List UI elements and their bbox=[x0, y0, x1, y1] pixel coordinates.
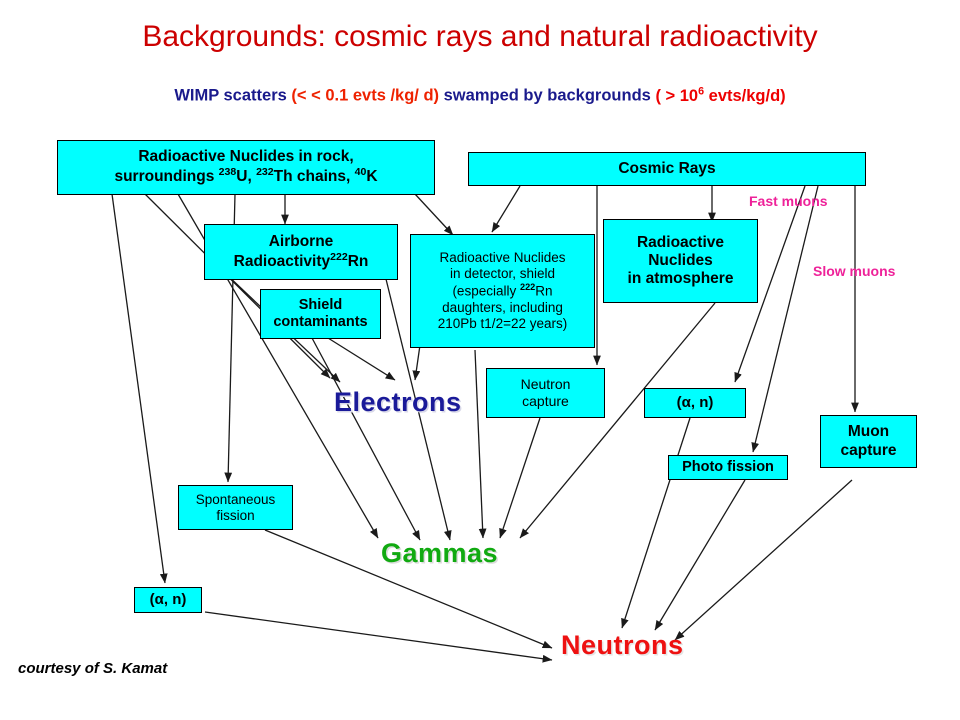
rn222-symbol: Rn bbox=[348, 253, 369, 270]
box-cosmic-rays[interactable]: Cosmic Rays bbox=[468, 152, 866, 186]
u238-mass-number: 238 bbox=[219, 166, 237, 178]
box-spontaneous-fission-line1: Spontaneous bbox=[196, 492, 276, 508]
box-muon-capture-line2: capture bbox=[841, 442, 897, 460]
box-rock-surroundings: surroundings bbox=[114, 169, 218, 186]
arrow-detector-to-gammas bbox=[475, 350, 483, 538]
arrow-cosmic-to-detector bbox=[492, 186, 520, 232]
alphan-right-close: , n) bbox=[691, 394, 714, 411]
k40-mass-number: 40 bbox=[355, 166, 367, 178]
box-airborne-line1: Airborne bbox=[234, 233, 369, 251]
credit-line: courtesy of S. Kamat bbox=[18, 660, 167, 677]
slide-title: Backgrounds: cosmic rays and natural rad… bbox=[0, 20, 960, 54]
box-airborne-line2: Radioactivity222Rn bbox=[234, 251, 369, 271]
box-neutron-capture-line2: capture bbox=[521, 393, 571, 410]
alphan-left-close: , n) bbox=[164, 591, 187, 608]
rn222-detector-symbol: Rn bbox=[535, 284, 552, 299]
box-detector-line4: daughters, including bbox=[438, 300, 567, 316]
arrow-shield-to-electrons bbox=[328, 338, 395, 380]
arrow-rock-to-gammas-a bbox=[145, 194, 330, 378]
u238-symbol: U, bbox=[236, 169, 256, 186]
box-shield-contaminants[interactable]: Shield contaminants bbox=[260, 289, 381, 339]
box-cosmic-rays-label: Cosmic Rays bbox=[618, 160, 715, 178]
box-muon-capture[interactable]: Muon capture bbox=[820, 415, 917, 468]
box-shield-line1: Shield bbox=[273, 297, 367, 314]
label-neutrons: Neutrons bbox=[561, 630, 684, 661]
arrow-photofission-to-neutrons bbox=[655, 480, 745, 630]
arrow-neutroncapture-to-gammas bbox=[500, 418, 540, 538]
arrow-rock-to-alphan-left bbox=[112, 194, 165, 583]
subtitle-rate-low: (< < 0.1 evts /kg/ d) bbox=[291, 87, 439, 105]
th232-symbol: Th chains, bbox=[274, 169, 355, 186]
box-radioactive-nuclides-detector[interactable]: Radioactive Nuclides in detector, shield… bbox=[410, 234, 595, 348]
box-alpha-n-left-label: (α, n) bbox=[150, 591, 187, 609]
box-rock-line2: surroundings 238U, 232Th chains, 40K bbox=[114, 166, 377, 186]
box-alpha-n-left[interactable]: (α, n) bbox=[134, 587, 202, 613]
box-detector-line1: Radioactive Nuclides bbox=[438, 250, 567, 266]
box-airborne-radioactivity-word: Radioactivity bbox=[234, 253, 330, 270]
slide-subtitle: WIMP scatters (< < 0.1 evts /kg/ d) swam… bbox=[0, 85, 960, 106]
box-atmosphere-line1: Radioactive bbox=[628, 234, 734, 252]
box-alpha-n-right[interactable]: (α, n) bbox=[644, 388, 746, 418]
label-gammas: Gammas bbox=[381, 538, 498, 569]
box-neutron-capture[interactable]: Neutron capture bbox=[486, 368, 605, 418]
box-atmosphere-line2: Nuclides bbox=[628, 252, 734, 270]
box-detector-line3: (especially 222Rn bbox=[438, 282, 567, 299]
box-photo-fission-label: Photo fission bbox=[682, 459, 774, 476]
rn222-detector-mass-number: 222 bbox=[520, 282, 535, 292]
box-photo-fission[interactable]: Photo fission bbox=[668, 455, 788, 480]
box-atmosphere-line3: in atmosphere bbox=[628, 270, 734, 288]
box-rock-line1: Radioactive Nuclides in rock, bbox=[114, 148, 377, 166]
box-alpha-n-right-label: (α, n) bbox=[677, 394, 714, 412]
box-radioactive-nuclides-rock[interactable]: Radioactive Nuclides in rock, surroundin… bbox=[57, 140, 435, 195]
box-radioactive-nuclides-atmosphere[interactable]: Radioactive Nuclides in atmosphere bbox=[603, 219, 758, 303]
arrow-rock-to-detector bbox=[415, 194, 453, 235]
box-detector-line5: 210Pb t1/2=22 years) bbox=[438, 316, 567, 332]
box-spontaneous-fission-line2: fission bbox=[196, 508, 276, 524]
rn222-mass-number: 222 bbox=[330, 251, 348, 263]
subtitle-rate-high-pre: ( > 10 bbox=[655, 87, 698, 105]
arrow-shield-to-gammas bbox=[312, 338, 420, 540]
alpha-glyph-right: α bbox=[682, 394, 691, 411]
subtitle-part-1: WIMP scatters bbox=[174, 87, 291, 105]
label-electrons: Electrons bbox=[334, 387, 462, 418]
box-spontaneous-fission[interactable]: Spontaneous fission bbox=[178, 485, 293, 530]
th232-mass-number: 232 bbox=[256, 166, 274, 178]
box-airborne-radioactivity[interactable]: Airborne Radioactivity222Rn bbox=[204, 224, 398, 280]
slide-canvas: Backgrounds: cosmic rays and natural rad… bbox=[0, 0, 960, 720]
alpha-glyph-left: α bbox=[155, 591, 164, 608]
box-muon-capture-line1: Muon bbox=[841, 423, 897, 441]
label-slow-muons: Slow muons bbox=[813, 263, 895, 279]
subtitle-part-3: swamped by backgrounds bbox=[439, 87, 655, 105]
box-detector-line2: in detector, shield bbox=[438, 266, 567, 282]
box-shield-line2: contaminants bbox=[273, 314, 367, 331]
arrow-alphanleft-to-neutrons bbox=[205, 612, 552, 660]
arrow-fastmuons-to-photofission bbox=[753, 186, 818, 452]
subtitle-rate-high-post: evts/kg/d) bbox=[704, 87, 786, 105]
arrow-detector-to-electrons bbox=[415, 345, 420, 380]
arrow-alphanright-to-neutrons bbox=[622, 418, 690, 628]
arrow-muoncapture-to-neutrons bbox=[675, 480, 852, 640]
box-detector-especially: (especially bbox=[452, 284, 520, 299]
subtitle-rate-high: ( > 106 evts/kg/d) bbox=[655, 87, 785, 105]
label-fast-muons: Fast muons bbox=[749, 193, 828, 209]
k40-symbol: K bbox=[366, 169, 377, 186]
box-neutron-capture-line1: Neutron bbox=[521, 376, 571, 393]
